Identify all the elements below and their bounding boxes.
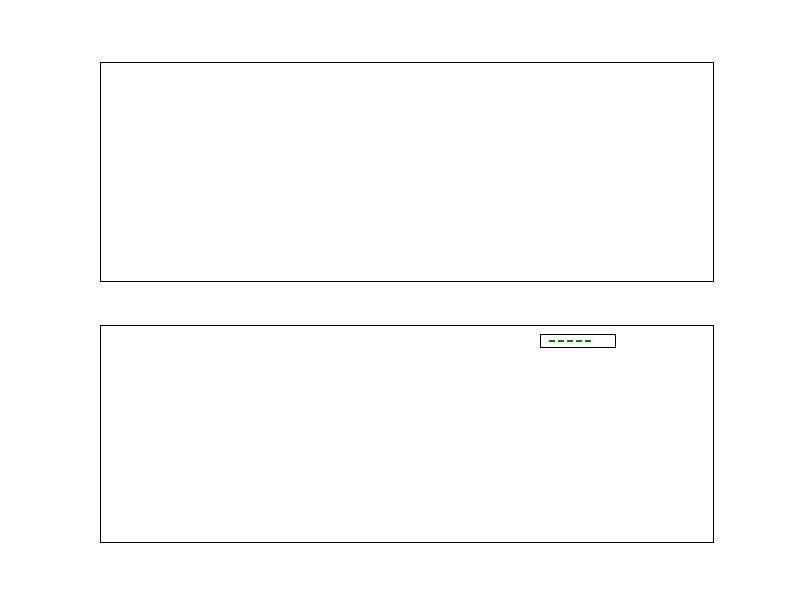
cumulative-curve-svg (101, 326, 713, 542)
histogram-bars-layer (101, 63, 713, 281)
top-histogram-axes (100, 62, 714, 282)
legend[interactable] (540, 334, 616, 348)
bottom-cumulative-axes (100, 325, 714, 543)
matplotlib-figure (0, 0, 800, 600)
legend-dashed-line-icon (549, 340, 591, 342)
cumulative-curve-layer (101, 326, 713, 542)
